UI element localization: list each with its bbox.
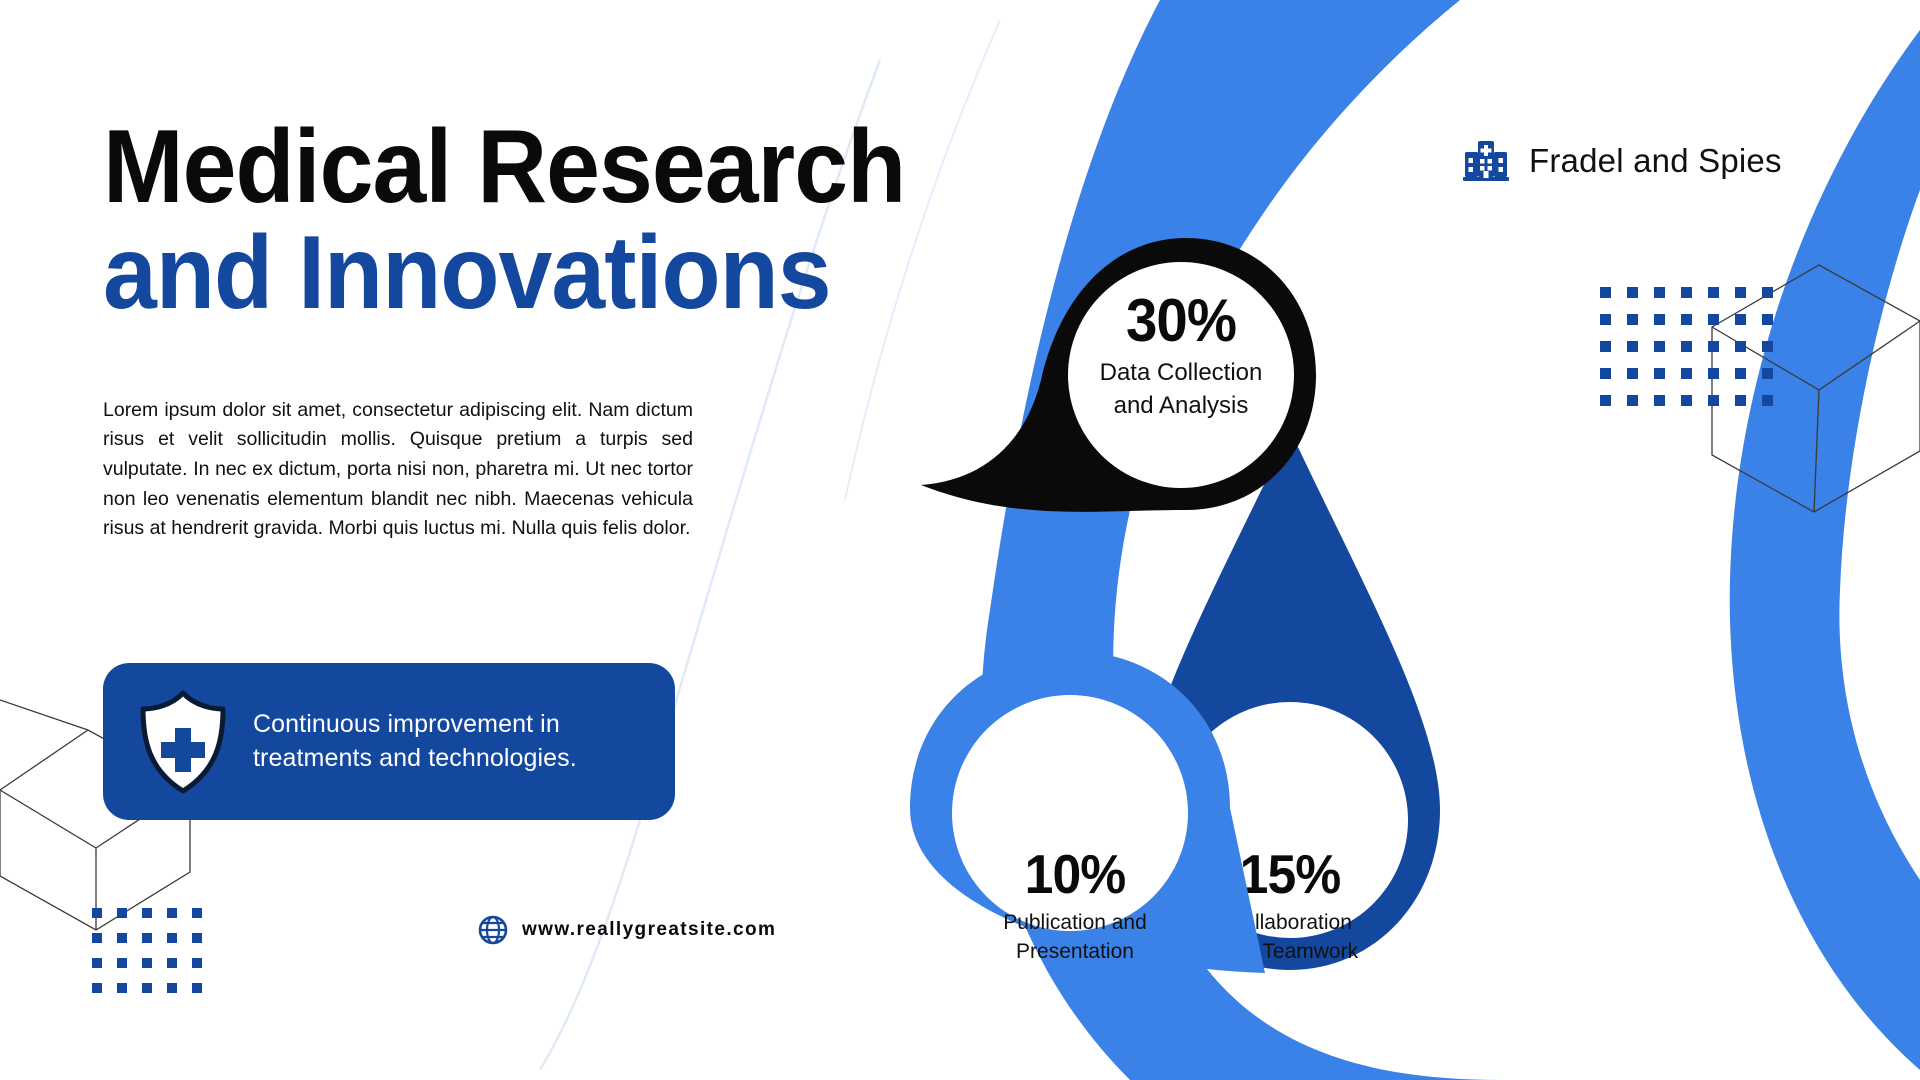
shield-medical-cross-icon (135, 688, 231, 796)
dot-grid-top-right (1600, 287, 1773, 406)
hospital-building-icon (1463, 139, 1509, 183)
cube-outline-top-right (1712, 265, 1920, 512)
cta-text-line-1: Continuous improvement in (253, 708, 577, 742)
dot-grid-bottom-left (92, 908, 202, 993)
website-url[interactable]: www.reallygreatsite.com (522, 919, 776, 941)
cta-text-line-2: treatments and technologies. (253, 742, 577, 776)
brand-name: Fradel and Spies (1529, 142, 1782, 180)
swoosh-right-arc (1730, 30, 1920, 1070)
teardrop-shape-light-blue (880, 518, 1270, 988)
page-title-line-1: Medical Research (103, 118, 810, 218)
infographic-item-2[interactable]: 10% Publication and Presentation (880, 518, 1270, 988)
poster-canvas: Fradel and Spies Medical Research and In… (0, 0, 1920, 1080)
hero-body-text: Lorem ipsum dolor sit amet, consectetur … (103, 396, 693, 544)
globe-icon (478, 915, 508, 945)
hero-text-block: Medical Research and Innovations Lorem i… (103, 118, 863, 563)
website-lockup[interactable]: www.reallygreatsite.com (478, 915, 776, 945)
cta-text: Continuous improvement in treatments and… (253, 708, 577, 775)
cta-banner[interactable]: Continuous improvement in treatments and… (103, 663, 675, 820)
page-title-line-2: and Innovations (103, 224, 810, 324)
teardrop-shape-black (916, 230, 1316, 550)
brand-lockup: Fradel and Spies (1463, 139, 1782, 183)
infographic-pie: 15% Collaboration and Teamwork 10% Publi… (880, 230, 1620, 950)
infographic-item-1[interactable]: 30% Data Collection and Analysis (916, 230, 1316, 550)
